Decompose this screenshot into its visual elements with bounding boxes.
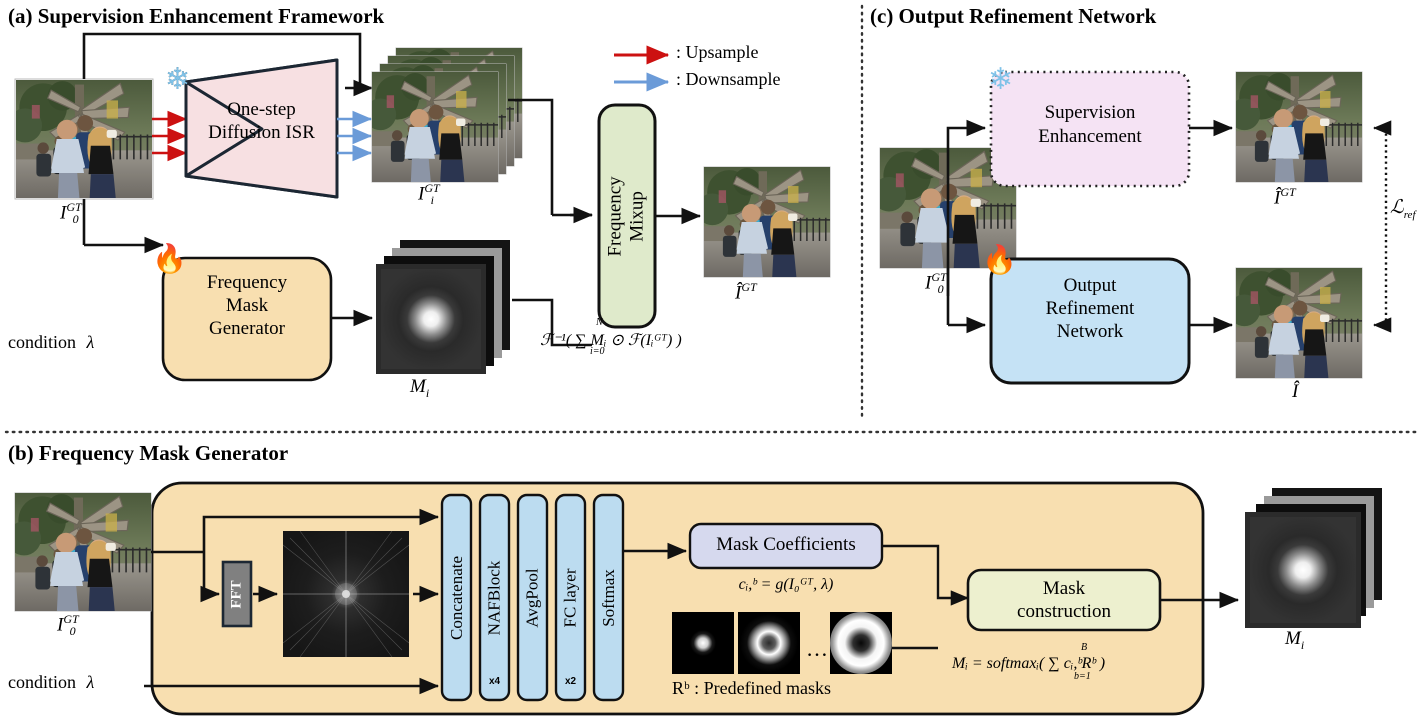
condition-label-b: condition λ bbox=[8, 672, 94, 693]
condition-word: condition bbox=[8, 332, 76, 352]
layer-avgpool-label: AvgPool bbox=[523, 568, 543, 627]
condition-lambda-b: λ bbox=[87, 672, 95, 692]
layer-nafblock[interactable]: NAFBlock bbox=[480, 495, 509, 700]
refinement-line2: Refinement bbox=[991, 298, 1189, 321]
legend-upsample-label: : Upsample bbox=[676, 42, 759, 63]
fmg-line2: Mask bbox=[163, 295, 331, 318]
gt-out-label-c: ÎGT bbox=[1274, 185, 1296, 209]
c-gt-sub: 0 bbox=[938, 282, 944, 296]
mask-sub: i bbox=[426, 386, 429, 400]
mask-label-a: Mi bbox=[410, 376, 429, 401]
panel-a-title: (a) Supervision Enhancement Framework bbox=[8, 4, 384, 29]
mixup-eq-sum-top: N bbox=[596, 317, 603, 328]
fmg-line3: Generator bbox=[163, 318, 331, 341]
input-gt-label-a: IGT0 bbox=[60, 200, 79, 227]
mixup-equation: ℱ⁻¹( ∑ Mᵢ ⊙ ℱ(Iᵢᴳᵀ) ) N i=0 bbox=[540, 330, 682, 350]
out-label-c: Î bbox=[1292, 381, 1298, 403]
multi-gt-sub: i bbox=[431, 193, 434, 207]
layer-softmax-label: Softmax bbox=[599, 569, 619, 627]
layer-softmax[interactable]: Softmax bbox=[594, 495, 623, 700]
legend-arrows bbox=[614, 55, 668, 82]
layer-fc-rep: x2 bbox=[556, 676, 585, 687]
gt-sub: 0 bbox=[73, 212, 79, 226]
refinement-box[interactable]: Output Refinement Network bbox=[991, 275, 1189, 343]
layer-concatenate[interactable]: Concatenate bbox=[442, 495, 471, 700]
spectrum-image bbox=[283, 531, 409, 657]
loss-label: ℒref bbox=[1390, 196, 1416, 221]
layer-concatenate-label: Concatenate bbox=[447, 555, 467, 639]
upsample-arrows bbox=[152, 119, 186, 153]
figure-root: (a) Supervision Enhancement Framework (c… bbox=[0, 0, 1423, 728]
multi-gt-label: IGTi bbox=[418, 181, 434, 208]
mask-construction-box[interactable]: Mask construction bbox=[968, 578, 1160, 624]
c-out-gt-sup: GT bbox=[1280, 185, 1295, 199]
layer-avgpool[interactable]: AvgPool bbox=[518, 495, 547, 700]
construction-equation-text: Mᵢ = softmaxᵢ( ∑ cᵢ,ᵇRᵇ ) bbox=[952, 655, 1105, 672]
masks-ellipsis: … bbox=[806, 636, 830, 662]
mixup-line1: Frequency bbox=[605, 176, 627, 256]
layer-nafblock-rep: x4 bbox=[480, 676, 509, 687]
refinement-line3: Network bbox=[991, 321, 1189, 344]
construction-eq-sum-bottom: b=1 bbox=[1074, 671, 1091, 682]
layer-fc[interactable]: FC layer bbox=[556, 495, 585, 700]
downsample-arrows bbox=[337, 119, 371, 153]
construction-line1: Mask bbox=[968, 578, 1160, 601]
b-mask-main: M bbox=[1285, 628, 1301, 649]
mask-coefficients-box[interactable]: Mask Coefficients bbox=[690, 534, 882, 556]
snowflake-icon-color: ❄ bbox=[165, 62, 190, 97]
input-gt-label-b: IGT0 bbox=[57, 612, 76, 639]
construction-eq-sum-top: B bbox=[1081, 642, 1087, 653]
condition-label-a: condition λ bbox=[8, 332, 94, 353]
condition-word-b: condition bbox=[8, 672, 76, 692]
fft-label: FFT bbox=[229, 580, 246, 608]
mixup-box[interactable]: Frequency Mixup bbox=[599, 105, 655, 327]
b-mask-sub: i bbox=[1301, 638, 1304, 652]
flame-icon: 🔥 bbox=[152, 242, 187, 276]
fmg-line1: Frequency bbox=[163, 272, 331, 295]
condition-lambda: λ bbox=[87, 332, 95, 352]
b-gt-sub: 0 bbox=[70, 624, 76, 638]
diffusion-box-line1: One-step bbox=[186, 98, 337, 121]
panel-c-title: (c) Output Refinement Network bbox=[870, 4, 1156, 29]
out-gt-sup: GT bbox=[741, 280, 756, 294]
mask-stack-b bbox=[1245, 488, 1382, 628]
input-gt-label-c: IGT0 bbox=[925, 270, 944, 297]
mask-main: M bbox=[410, 376, 426, 397]
loss-main: ℒ bbox=[1390, 197, 1404, 218]
mixup-line2: Mixup bbox=[627, 176, 649, 256]
legend-downsample-label: : Downsample bbox=[676, 69, 780, 90]
diffusion-box-line2: Diffusion ISR bbox=[186, 121, 337, 144]
snowflake-icon-c: ❄ bbox=[988, 62, 1013, 97]
supervision-line1: Supervision bbox=[991, 101, 1189, 125]
mixup-eq-sum-bottom: i=0 bbox=[590, 346, 605, 357]
predefined-masks-caption: Rᵇ : Predefined masks bbox=[672, 678, 831, 699]
construction-line2: construction bbox=[968, 601, 1160, 624]
mask-label-b: Mi bbox=[1285, 628, 1304, 653]
layer-fc-label: FC layer bbox=[561, 568, 581, 627]
diffusion-box[interactable]: One-step Diffusion ISR bbox=[186, 98, 337, 144]
mixup-equation-text: ℱ⁻¹( ∑ Mᵢ ⊙ ℱ(Iᵢᴳᵀ) ) bbox=[540, 332, 682, 349]
output-gt-label-a: ÎGT bbox=[735, 280, 757, 304]
layer-nafblock-label: NAFBlock bbox=[485, 560, 505, 635]
supervision-line2: Enhancement bbox=[991, 125, 1189, 149]
supervision-box[interactable]: Supervision Enhancement bbox=[991, 101, 1189, 148]
multi-scale-gt-stack bbox=[365, 48, 522, 182]
mask-stack-a bbox=[376, 240, 510, 374]
fft-box[interactable]: FFT bbox=[223, 562, 251, 626]
construction-equation: Mᵢ = softmaxᵢ( ∑ cᵢ,ᵇRᵇ ) B b=1 bbox=[952, 655, 1105, 673]
flame-icon-c: 🔥 bbox=[982, 243, 1017, 277]
predefined-masks bbox=[672, 612, 892, 674]
loss-sub: ref bbox=[1404, 209, 1416, 221]
panel-b-title: (b) Frequency Mask Generator bbox=[8, 441, 288, 466]
fmg-box[interactable]: Frequency Mask Generator bbox=[163, 272, 331, 340]
coefficient-equation: cᵢ,ᵇ = g(I₀ᴳᵀ, λ) bbox=[690, 576, 882, 594]
refinement-line1: Output bbox=[991, 275, 1189, 298]
